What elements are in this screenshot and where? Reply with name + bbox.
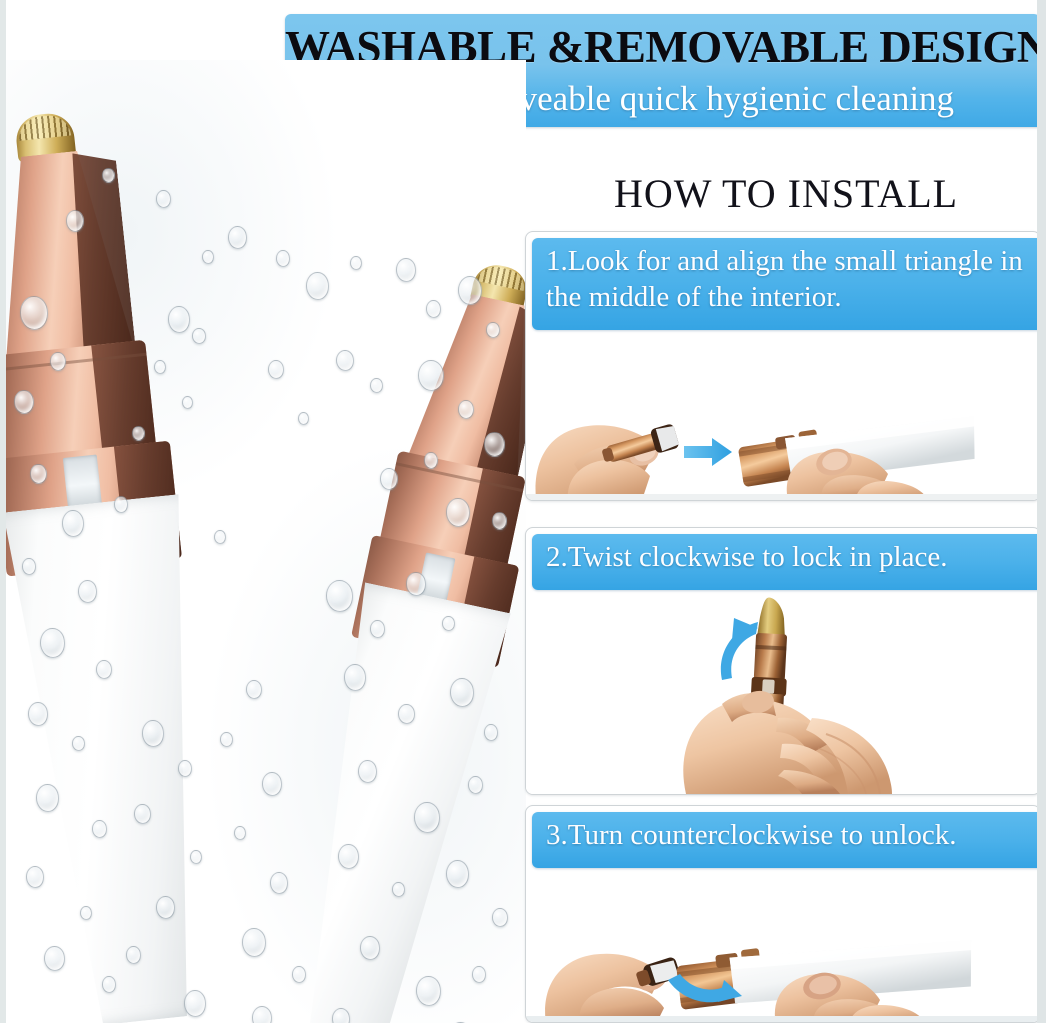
step-1-illustration-svg	[526, 334, 1040, 500]
step-2-illustration-svg	[526, 594, 1040, 794]
step-2-caption: 2.Twist clockwise to lock in place.	[546, 539, 1040, 575]
white-handle-2	[247, 579, 526, 1023]
page-title: HOW TO INSTALL	[526, 170, 1046, 218]
step-1-caption: 1.Look for and align the small triangle …	[546, 243, 1040, 315]
step-3-header: 3.Turn counterclockwise to unlock.	[532, 812, 1040, 868]
step-card-3: 3.Turn counterclockwise to unlock.	[525, 805, 1041, 1023]
step-2-header: 2.Twist clockwise to lock in place.	[532, 534, 1040, 590]
step-3-illustration-svg	[526, 872, 1040, 1022]
trimmer-device-right	[206, 190, 506, 1023]
step-card-1: 1.Look for and align the small triangle …	[525, 231, 1041, 501]
step-3-caption: 3.Turn counterclockwise to unlock.	[546, 817, 1040, 853]
infographic-page: WASHABLE &REMOVABLE DESIGN Easy removeab…	[0, 0, 1046, 1023]
arrow-twist-icon	[721, 618, 758, 680]
arrow-right-icon	[684, 438, 732, 466]
step-1-illustration	[526, 334, 1040, 500]
step-3-illustration	[526, 872, 1040, 1022]
gripping-hand-group	[683, 689, 892, 794]
step-card-2: 2.Twist clockwise to lock in place.	[525, 527, 1041, 795]
step-2-illustration	[526, 594, 1040, 794]
step-1-header: 1.Look for and align the small triangle …	[532, 238, 1040, 330]
product-photo	[6, 60, 526, 1023]
